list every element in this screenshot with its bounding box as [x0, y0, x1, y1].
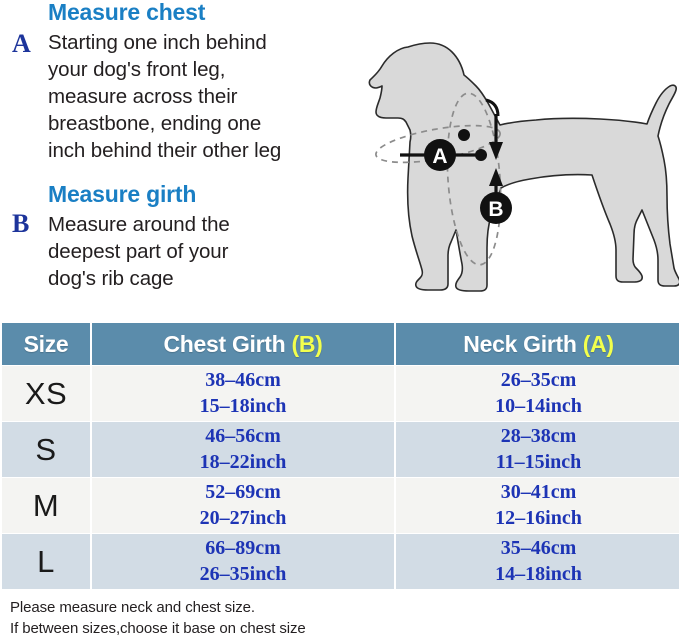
cell-chest-inch: 18–22inch: [92, 450, 394, 476]
cell-neck-cm: 30–41cm: [396, 480, 679, 506]
cell-neck-cm: 35–46cm: [396, 536, 679, 562]
table-row: L 66–89cm 26–35inch 35–46cm 14–18inch: [2, 534, 679, 589]
footer-note: Please measure neck and chest size. If b…: [10, 598, 570, 639]
cell-chest-inch: 26–35inch: [92, 562, 394, 588]
cell-chest-girth: 46–56cm 18–22inch: [92, 422, 394, 477]
instruction-letter-b: B: [12, 211, 29, 237]
dog-silhouette-icon: [369, 43, 679, 291]
cell-chest-cm: 52–69cm: [92, 480, 394, 506]
cell-size: S: [2, 422, 90, 477]
cell-chest-girth: 52–69cm 20–27inch: [92, 478, 394, 533]
cell-neck-inch: 14–18inch: [396, 562, 679, 588]
column-header-neck-text: Neck Girth: [463, 331, 582, 357]
cell-neck-inch: 11–15inch: [396, 450, 679, 476]
cell-chest-inch: 15–18inch: [92, 394, 394, 420]
table-row: S 46–56cm 18–22inch 28–38cm 11–15inch: [2, 422, 679, 477]
cell-neck-girth: 30–41cm 12–16inch: [396, 478, 679, 533]
column-header-size: Size: [2, 323, 90, 365]
instruction-text-chest: Starting one inch behind your dog's fron…: [48, 31, 281, 162]
instruction-title-chest: Measure chest: [48, 0, 370, 25]
cell-chest-cm: 46–56cm: [92, 424, 394, 450]
instruction-title-girth: Measure girth: [48, 182, 370, 207]
cell-chest-cm: 38–46cm: [92, 368, 394, 394]
cell-neck-inch: 12–16inch: [396, 506, 679, 532]
cell-chest-inch: 20–27inch: [92, 506, 394, 532]
column-header-neck-girth: Neck Girth (A): [396, 323, 679, 365]
instruction-body-girth: B Measure around the deepest part of you…: [0, 211, 370, 292]
cell-size: L: [2, 534, 90, 589]
cell-size: XS: [2, 366, 90, 421]
marker-badge-a: A: [424, 139, 456, 171]
size-chart-table: Size Chest Girth (B) Neck Girth (A) XS 3…: [0, 322, 679, 594]
cell-chest-girth: 38–46cm 15–18inch: [92, 366, 394, 421]
column-header-chest-girth: Chest Girth (B): [92, 323, 394, 365]
cell-neck-girth: 35–46cm 14–18inch: [396, 534, 679, 589]
column-header-chest-mark: (B): [292, 331, 323, 357]
cell-neck-girth: 26–35cm 10–14inch: [396, 366, 679, 421]
cell-neck-girth: 28–38cm 11–15inch: [396, 422, 679, 477]
instruction-block-girth: Measure girth B Measure around the deepe…: [0, 182, 370, 292]
table-row: M 52–69cm 20–27inch 30–41cm 12–16inch: [2, 478, 679, 533]
instructions-panel: Measure chest A Starting one inch behind…: [0, 0, 370, 310]
cell-neck-cm: 28–38cm: [396, 424, 679, 450]
cell-size: M: [2, 478, 90, 533]
cell-neck-inch: 10–14inch: [396, 394, 679, 420]
table-header-row: Size Chest Girth (B) Neck Girth (A): [2, 323, 679, 365]
cell-chest-cm: 66–89cm: [92, 536, 394, 562]
table-row: XS 38–46cm 15–18inch 26–35cm 10–14inch: [2, 366, 679, 421]
instruction-block-chest: Measure chest A Starting one inch behind…: [0, 0, 370, 165]
column-header-chest-text: Chest Girth: [163, 331, 291, 357]
marker-b-label: B: [488, 198, 503, 221]
dog-diagram: A B: [368, 18, 679, 310]
cell-neck-cm: 26–35cm: [396, 368, 679, 394]
instruction-text-girth: Measure around the deepest part of your …: [48, 213, 230, 290]
instruction-letter-a: A: [12, 31, 31, 57]
instruction-body-chest: A Starting one inch behind your dog's fr…: [0, 29, 370, 164]
column-header-neck-mark: (A): [583, 331, 614, 357]
marker-badge-b: B: [480, 192, 512, 224]
marker-a-label: A: [432, 145, 447, 168]
cell-chest-girth: 66–89cm 26–35inch: [92, 534, 394, 589]
